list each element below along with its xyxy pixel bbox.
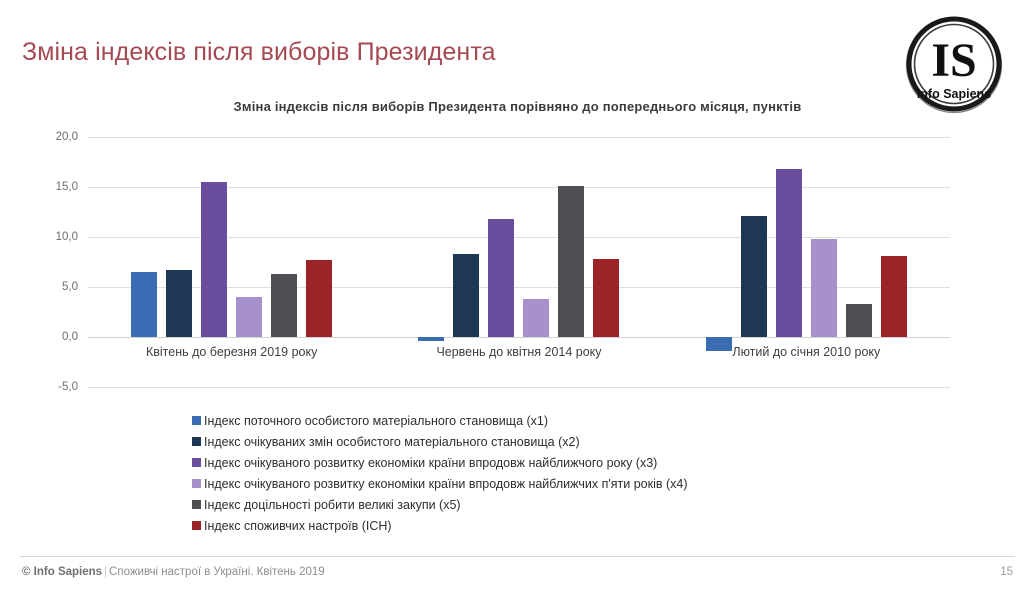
bar[interactable]: [418, 337, 444, 341]
legend-item[interactable]: Індекс очікуваних змін особистого матері…: [192, 431, 688, 452]
bar[interactable]: [881, 256, 907, 337]
footer-caption: Споживчі настрої в Україні. Квітень 2019: [109, 566, 325, 578]
bar[interactable]: [593, 259, 619, 337]
bar[interactable]: [306, 260, 332, 337]
legend-swatch-icon: [192, 479, 201, 488]
x-axis-category-label: Червень до квітня 2014 року: [375, 345, 662, 359]
legend-label: Індекс споживчих настроїв (ІСН): [204, 519, 392, 533]
legend-item[interactable]: Індекс очікуваного розвитку економіки кр…: [192, 452, 688, 473]
legend-label: Індекс очікуваного розвитку економіки кр…: [204, 456, 657, 470]
legend-label: Індекс поточного особистого матеріальног…: [204, 414, 548, 428]
legend-swatch-icon: [192, 416, 201, 425]
footer-separator: |: [102, 566, 109, 578]
y-axis-tick-label: 15,0: [20, 181, 78, 193]
x-axis-category-label: Лютий до січня 2010 року: [663, 345, 950, 359]
y-axis-tick-label: 5,0: [20, 281, 78, 293]
bar[interactable]: [131, 272, 157, 337]
legend-item[interactable]: Індекс очікуваного розвитку економіки кр…: [192, 473, 688, 494]
bar[interactable]: [271, 274, 297, 337]
bar[interactable]: [488, 219, 514, 337]
page-number: 15: [1000, 566, 1013, 578]
bar[interactable]: [741, 216, 767, 337]
bar[interactable]: [453, 254, 479, 337]
gridline: [88, 387, 950, 388]
legend-label: Індекс очікуваних змін особистого матері…: [204, 435, 580, 449]
y-axis-tick-label: 0,0: [20, 331, 78, 343]
legend-item[interactable]: Індекс доцільності робити великі закупи …: [192, 494, 688, 515]
legend-label: Індекс доцільності робити великі закупи …: [204, 498, 461, 512]
y-axis-tick-label: 10,0: [20, 231, 78, 243]
legend-swatch-icon: [192, 521, 201, 530]
logo-initials: IS: [931, 34, 976, 87]
bar[interactable]: [523, 299, 549, 337]
bar[interactable]: [811, 239, 837, 337]
y-axis-tick-label: 20,0: [20, 131, 78, 143]
legend-item[interactable]: Індекс поточного особистого матеріальног…: [192, 410, 688, 431]
legend-swatch-icon: [192, 500, 201, 509]
bar[interactable]: [558, 186, 584, 337]
bar[interactable]: [236, 297, 262, 337]
slide: Зміна індексів після виборів Президента …: [0, 0, 1035, 598]
legend-swatch-icon: [192, 458, 201, 467]
bar[interactable]: [201, 182, 227, 337]
footer-divider: [20, 556, 1015, 557]
y-axis-tick-label: -5,0: [20, 381, 78, 393]
footer-brand: © Info Sapiens: [22, 566, 102, 578]
bar[interactable]: [776, 169, 802, 337]
chart-legend: Індекс поточного особистого матеріальног…: [192, 410, 688, 536]
bar[interactable]: [846, 304, 872, 337]
legend-item[interactable]: Індекс споживчих настроїв (ІСН): [192, 515, 688, 536]
bar-chart: 20,015,010,05,00,0-5,0Квітень до березня…: [20, 137, 950, 387]
legend-label: Індекс очікуваного розвитку економіки кр…: [204, 477, 688, 491]
x-axis-category-label: Квітень до березня 2019 року: [88, 345, 375, 359]
footer-brand-line: © Info Sapiens|Споживчі настрої в Україн…: [22, 566, 325, 578]
legend-swatch-icon: [192, 437, 201, 446]
bar[interactable]: [166, 270, 192, 337]
chart-title: Зміна індексів після виборів Президента …: [0, 99, 1035, 114]
page-title: Зміна індексів після виборів Президента: [22, 38, 496, 67]
